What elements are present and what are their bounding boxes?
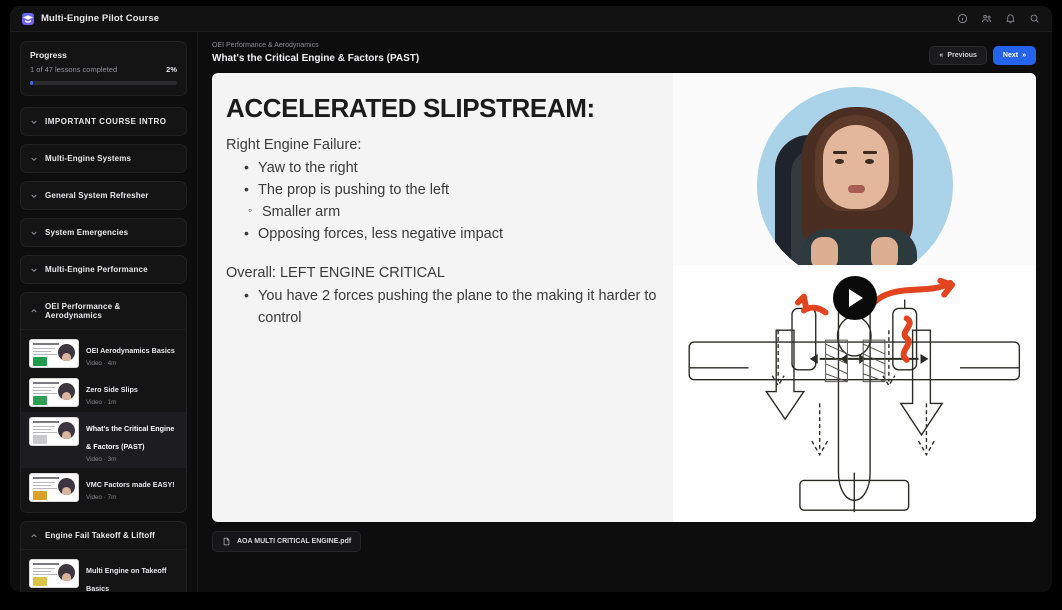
course-section: Multi-Engine Performance [20,255,187,284]
slide-bullet: The prop is pushing to the left [244,179,663,201]
section-label: General System Refresher [45,191,149,200]
brand[interactable]: Multi-Engine Pilot Course [22,13,159,25]
section-list: IMPORTANT COURSE INTROMulti-Engine Syste… [20,107,187,592]
lesson-header: OEI Performance & Aerodynamics What's th… [212,42,1036,65]
slide-bullet: Opposing forces, less negative impact [244,223,663,245]
course-section: OEI Performance & AerodynamicsOEI Aerody… [20,292,187,513]
slide-sub-bullets: Smaller arm [248,201,663,223]
slide-sub-bullet: Smaller arm [248,201,663,223]
window-title: Multi-Engine Pilot Course [41,13,159,24]
next-label: Next [1003,52,1018,59]
lesson-thumbnail [29,473,79,502]
progress-card: Progress 1 of 47 lessons completed 2% [20,41,187,96]
lesson-item[interactable]: VMC Factors made EASY!Video · 7m [21,468,186,507]
lesson-title: VMC Factors made EASY! [86,480,175,489]
course-section: System Emergencies [20,218,187,247]
progress-percent: 2% [166,65,177,74]
progress-bar [30,81,177,85]
previous-button[interactable]: « Previous [929,46,986,65]
slide-intro: Right Engine Failure: [226,135,663,157]
lesson-title: What's the Critical Engine & Factors (PA… [86,424,174,451]
progress-bar-fill [30,81,33,85]
section-header[interactable]: Multi-Engine Performance [21,256,186,283]
lesson-meta: What's the Critical Engine & Factors (PA… [86,417,178,463]
section-label: System Emergencies [45,228,128,237]
lesson-title: Multi Engine on Takeoff Basics [86,566,167,592]
lesson-title: OEI Aerodynamics Basics [86,346,175,355]
presenter-brow-right [863,151,877,154]
play-icon [849,289,863,307]
section-label: IMPORTANT COURSE INTRO [45,117,167,126]
next-button[interactable]: Next » [993,46,1036,65]
lesson-nav: « Previous Next » [929,42,1036,65]
lesson-list: OEI Aerodynamics BasicsVideo · 4mZero Si… [21,329,186,512]
course-sidebar[interactable]: Progress 1 of 47 lessons completed 2% IM… [10,32,198,592]
top-bar-icons [957,13,1040,24]
presenter-video-bubble [757,87,953,283]
slide-text-pane: ACCELERATED SLIPSTREAM: Right Engine Fai… [212,73,673,522]
chevron-down-icon [30,155,38,163]
slide-title: ACCELERATED SLIPSTREAM: [226,93,663,124]
next-chevron-icon: » [1022,52,1026,59]
lesson-subtitle: Video · 7m [86,494,175,501]
course-section: Engine Fail Takeoff & LiftoffMulti Engin… [20,521,187,592]
info-circle-icon[interactable] [957,13,968,24]
lesson-subtitle: Video · 4m [86,360,175,367]
lesson-item[interactable]: Zero Side SlipsVideo · 1m [21,373,186,412]
section-label: Engine Fail Takeoff & Liftoff [45,531,155,540]
presenter-face [823,125,889,209]
app-window: Multi-Engine Pilot Course Progress 1 of … [10,6,1052,592]
slide-bullets: Yaw to the right The prop is pushing to … [244,157,663,201]
video-player[interactable]: ACCELERATED SLIPSTREAM: Right Engine Fai… [212,73,1036,522]
lesson-title: Zero Side Slips [86,385,138,394]
pdf-attachment[interactable]: AOA MULTI CRITICAL ENGINE.pdf [212,531,361,552]
lesson-meta: Multi Engine on Takeoff BasicsVideo · 2m [86,559,178,592]
section-label: OEI Performance & Aerodynamics [45,302,177,320]
lesson-thumbnail [29,339,79,368]
slide-overall: Overall: LEFT ENGINE CRITICAL [226,263,663,285]
section-header[interactable]: OEI Performance & Aerodynamics [21,293,186,329]
previous-label: Previous [947,52,977,59]
top-bar: Multi-Engine Pilot Course [10,6,1052,32]
course-section: Multi-Engine Systems [20,144,187,173]
course-section: IMPORTANT COURSE INTRO [20,107,187,136]
slide-bullet: Yaw to the right [244,157,663,179]
slide-bullet: You have 2 forces pushing the plane to t… [244,285,663,329]
lesson-meta: Zero Side SlipsVideo · 1m [86,378,138,406]
play-button[interactable] [833,276,877,320]
section-header[interactable]: System Emergencies [21,219,186,246]
graduation-cap-icon [22,13,34,25]
lesson-item-active[interactable]: What's the Critical Engine & Factors (PA… [21,412,186,468]
lesson-thumbnail [29,417,79,446]
section-header[interactable]: General System Refresher [21,182,186,209]
presenter-mouth [848,185,865,193]
attachment-list: AOA MULTI CRITICAL ENGINE.pdf [212,531,1036,552]
slide-overall-bullets: You have 2 forces pushing the plane to t… [244,285,663,329]
chevron-down-icon [30,118,38,126]
lesson-thumbnail [29,559,79,588]
progress-title: Progress [30,50,177,60]
lesson-main: OEI Performance & Aerodynamics What's th… [198,32,1052,592]
chevron-down-icon [30,266,38,274]
chevron-up-icon [30,532,38,540]
bell-icon[interactable] [1005,13,1016,24]
lesson-item[interactable]: Multi Engine on Takeoff BasicsVideo · 2m [21,554,186,592]
presenter-eye-left [835,159,844,164]
chevron-down-icon [30,192,38,200]
prev-chevron-icon: « [939,52,943,59]
section-header[interactable]: Multi-Engine Systems [21,145,186,172]
section-header[interactable]: IMPORTANT COURSE INTRO [21,108,186,135]
slide-bullets-continued: Opposing forces, less negative impact [244,223,663,245]
lesson-subtitle: Video · 3m [86,456,178,463]
slide-bullet-line1: You have 2 forces pushing the plane to t… [258,288,532,304]
presenter-eye-right [865,159,874,164]
breadcrumb: OEI Performance & Aerodynamics [212,42,419,49]
slide-media-pane [673,73,1036,522]
lesson-meta: OEI Aerodynamics BasicsVideo · 4m [86,339,175,367]
lesson-thumbnail [29,378,79,407]
search-icon[interactable] [1029,13,1040,24]
lesson-list: Multi Engine on Takeoff BasicsVideo · 2m… [21,549,186,592]
section-header[interactable]: Engine Fail Takeoff & Liftoff [21,522,186,549]
community-icon[interactable] [981,13,992,24]
chevron-up-icon [30,307,38,315]
document-icon [222,537,231,546]
page-title: What's the Critical Engine & Factors (PA… [212,53,419,64]
section-label: Multi-Engine Performance [45,265,148,274]
pdf-filename: AOA MULTI CRITICAL ENGINE.pdf [237,538,351,545]
lesson-meta: VMC Factors made EASY!Video · 7m [86,473,175,501]
lesson-subtitle: Video · 1m [86,399,138,406]
body-split: Progress 1 of 47 lessons completed 2% IM… [10,32,1052,592]
course-section: General System Refresher [20,181,187,210]
section-label: Multi-Engine Systems [45,154,131,163]
progress-subtitle: 1 of 47 lessons completed [30,65,117,74]
presenter-brow-left [833,151,847,154]
chevron-down-icon [30,229,38,237]
lesson-item[interactable]: OEI Aerodynamics BasicsVideo · 4m [21,334,186,373]
